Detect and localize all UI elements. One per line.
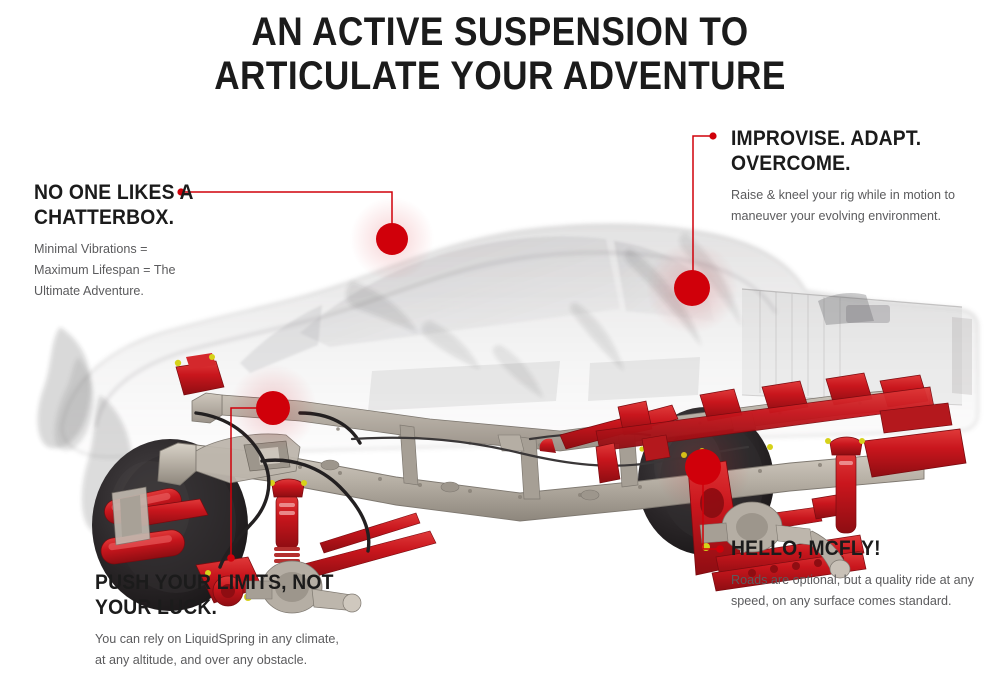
callout-improvise: IMPROVISE. ADAPT. OVERCOME. Raise & knee…: [731, 126, 979, 227]
connector-push-limits: [227, 391, 290, 562]
callout-mcfly: HELLO, MCFLY! Roads are optional, but a …: [731, 536, 979, 612]
callout-body-chatterbox: Minimal Vibrations = Maximum Lifespan = …: [34, 239, 224, 302]
connector-improvise: [674, 132, 717, 306]
callout-body-mcfly: Roads are optional, but a quality ride a…: [731, 570, 979, 612]
connector-mcfly: [685, 449, 724, 553]
callout-marker-push-limits[interactable]: [256, 391, 290, 425]
callout-heading-push-limits: PUSH YOUR LIMITS, NOT YOUR LUCK.: [95, 570, 343, 620]
callout-push-limits: PUSH YOUR LIMITS, NOT YOUR LUCK. You can…: [95, 570, 365, 671]
callout-marker-improvise[interactable]: [674, 270, 710, 306]
callout-chatterbox: NO ONE LIKES A CHATTERBOX. Minimal Vibra…: [34, 180, 224, 302]
callout-body-push-limits: You can rely on LiquidSpring in any clim…: [95, 629, 365, 671]
callout-heading-chatterbox: NO ONE LIKES A CHATTERBOX.: [34, 180, 209, 230]
callout-marker-mcfly[interactable]: [685, 449, 721, 485]
callout-dot-push-limits[interactable]: [227, 554, 235, 562]
callout-body-improvise: Raise & kneel your rig while in motion t…: [731, 185, 979, 227]
infographic-canvas: AN ACTIVE SUSPENSION TO ARTICULATE YOUR …: [0, 0, 1000, 678]
callout-marker-chatterbox[interactable]: [376, 223, 408, 255]
callout-heading-mcfly: HELLO, MCFLY!: [731, 536, 959, 561]
callout-dot-mcfly[interactable]: [716, 545, 724, 553]
callout-heading-improvise: IMPROVISE. ADAPT. OVERCOME.: [731, 126, 959, 176]
callout-dot-improvise[interactable]: [709, 132, 716, 139]
